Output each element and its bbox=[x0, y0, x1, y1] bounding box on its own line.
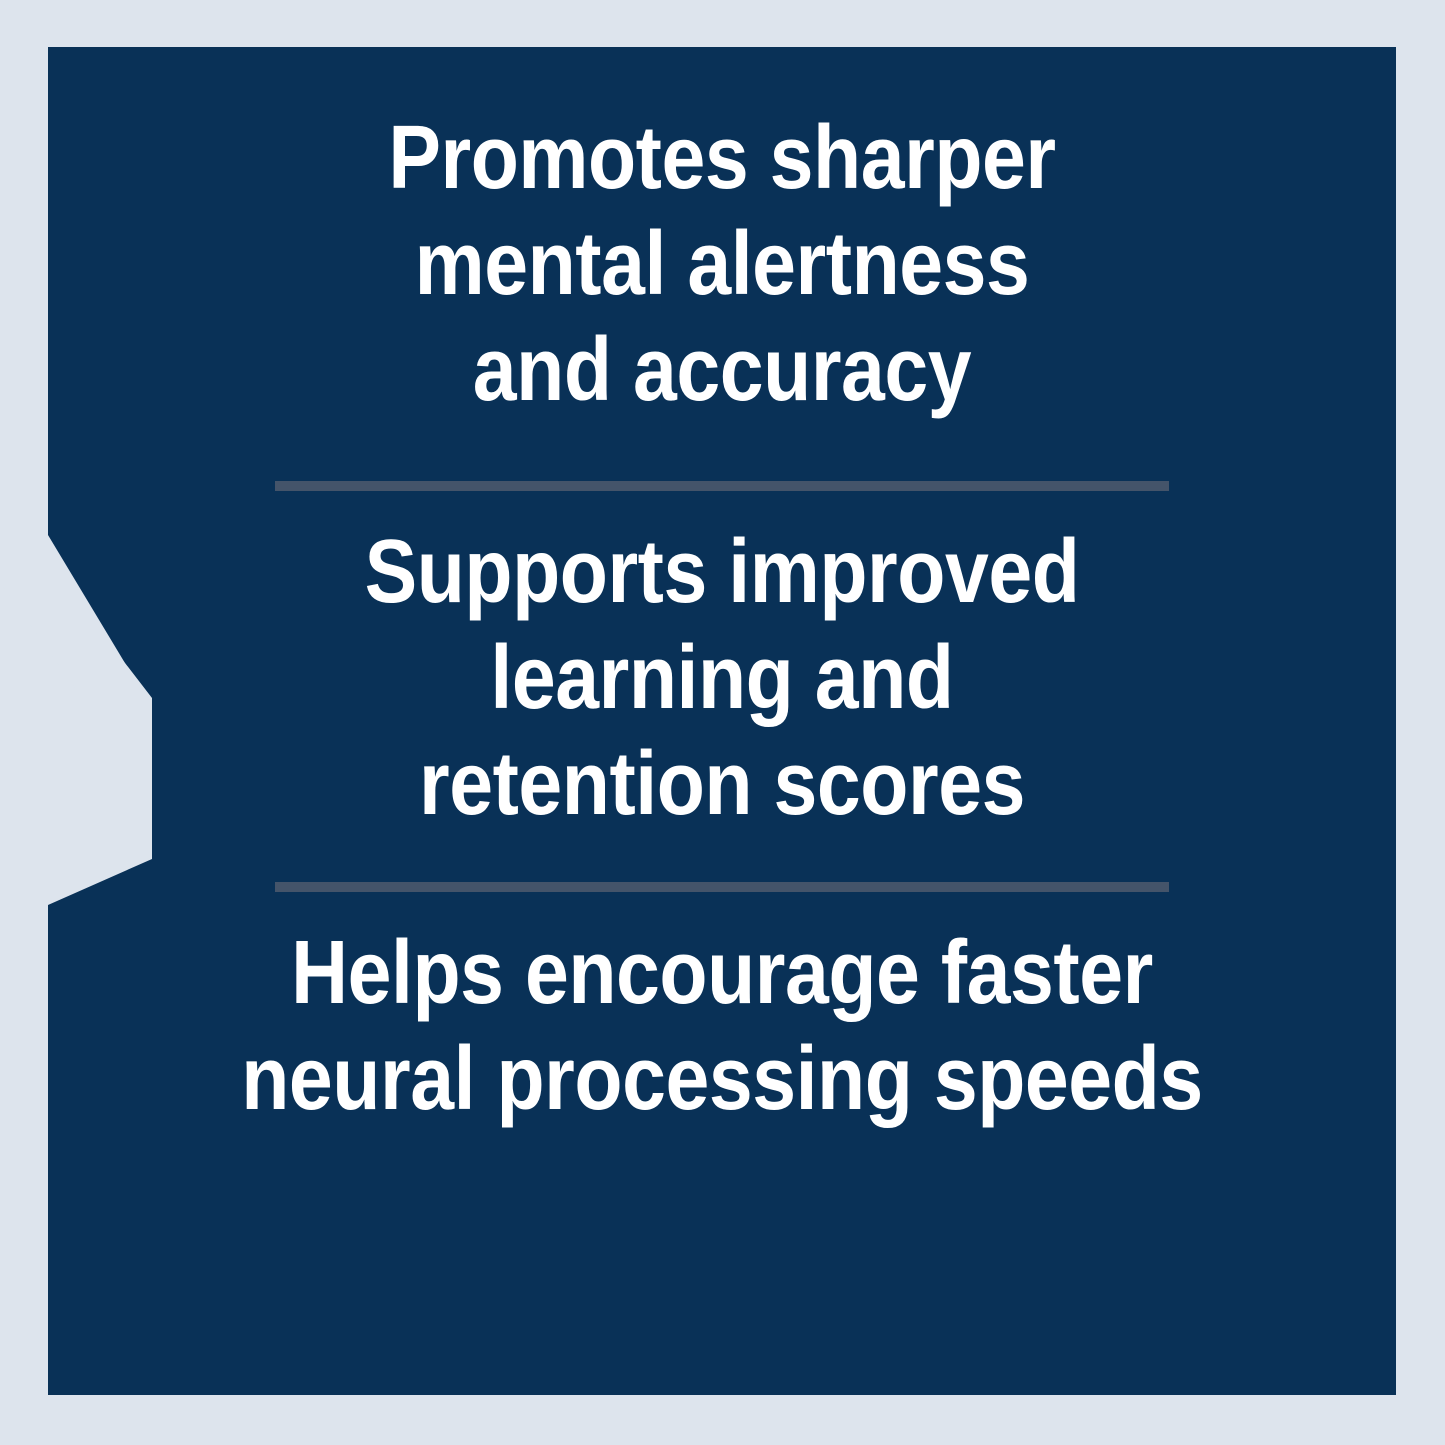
benefit-divider-2 bbox=[275, 882, 1169, 892]
benefit-2-line-2: learning and bbox=[132, 625, 1312, 731]
benefit-item-3: Helps encourage faster neural processing… bbox=[48, 892, 1396, 1132]
benefits-list: Promotes sharper mental alertness and ac… bbox=[48, 47, 1396, 1395]
benefit-3-line-1: Helps encourage faster bbox=[132, 920, 1312, 1026]
benefit-2-line-1: Supports improved bbox=[132, 519, 1312, 625]
benefit-divider-1 bbox=[275, 481, 1169, 491]
benefit-2-line-3: retention scores bbox=[132, 731, 1312, 837]
benefit-1-line-3: and accuracy bbox=[132, 317, 1312, 423]
benefit-item-2: Supports improved learning and retention… bbox=[48, 491, 1396, 838]
infographic-panel-stage: Promotes sharper mental alertness and ac… bbox=[0, 0, 1445, 1445]
benefit-item-1: Promotes sharper mental alertness and ac… bbox=[48, 47, 1396, 424]
benefit-1-line-1: Promotes sharper bbox=[132, 105, 1312, 211]
benefit-3-line-2: neural processing speeds bbox=[132, 1026, 1312, 1132]
benefit-1-line-2: mental alertness bbox=[132, 211, 1312, 317]
